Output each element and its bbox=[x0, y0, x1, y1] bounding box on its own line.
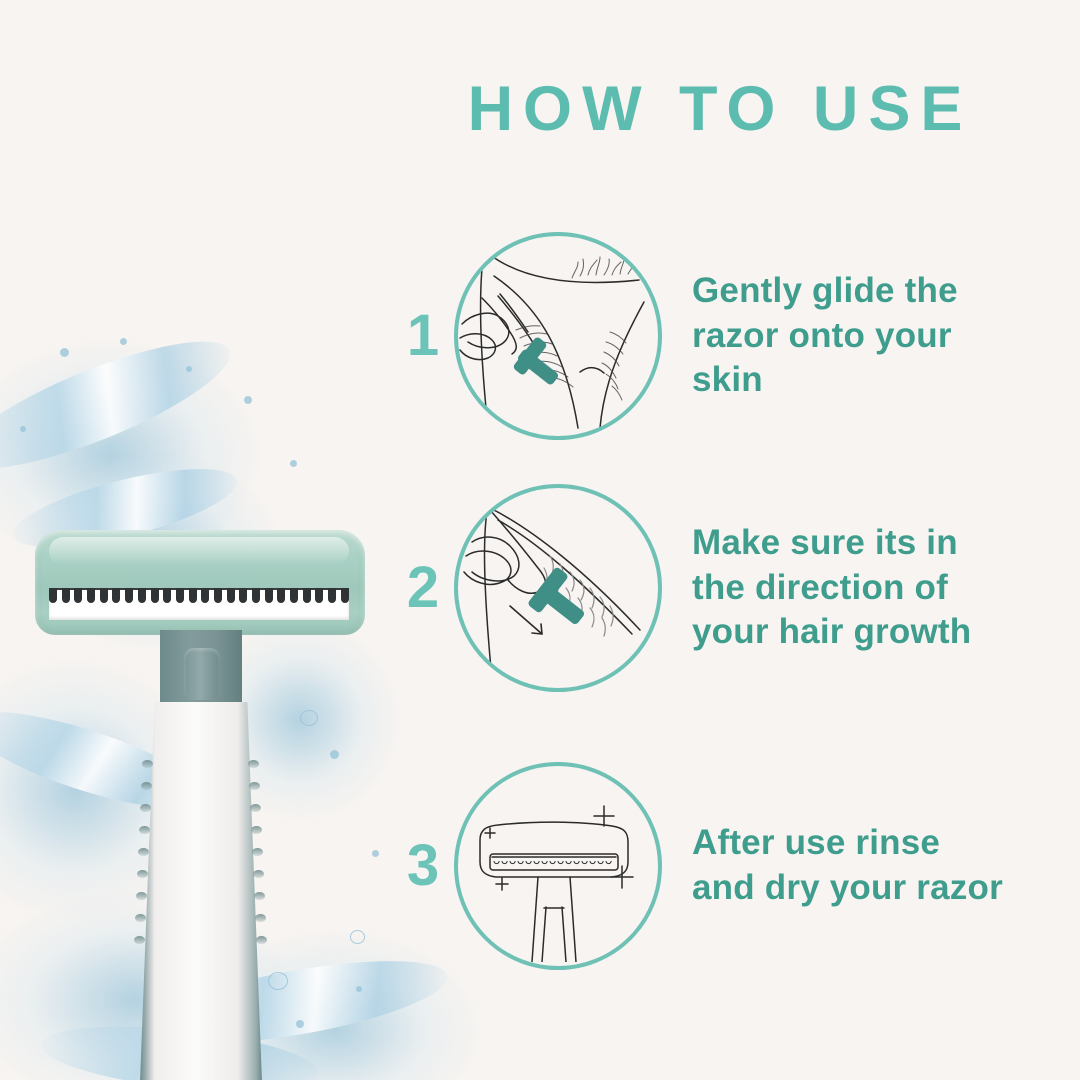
water-droplet bbox=[120, 338, 127, 345]
comb-tooth bbox=[100, 588, 108, 603]
razor-grip-ridge bbox=[256, 936, 267, 944]
step-text: Make sure its in the direction of your h… bbox=[692, 521, 1012, 655]
razor-neck-knob bbox=[184, 648, 220, 700]
razor-grip-ridge bbox=[254, 892, 265, 900]
razor-grip-ridge bbox=[248, 760, 259, 768]
razor-grip-ridge bbox=[135, 914, 146, 922]
comb-tooth bbox=[138, 588, 146, 603]
comb-tooth bbox=[74, 588, 82, 603]
step-number: 3 bbox=[392, 837, 454, 895]
comb-tooth bbox=[315, 588, 323, 603]
comb-tooth bbox=[62, 588, 70, 603]
water-droplet bbox=[296, 1020, 304, 1028]
razor-head bbox=[35, 530, 365, 635]
razor-grip-ridge bbox=[140, 804, 151, 812]
step-2: 2 bbox=[392, 484, 1012, 692]
step-number: 2 bbox=[392, 559, 454, 617]
razor-product-photo bbox=[0, 330, 420, 1080]
water-droplet bbox=[372, 850, 379, 857]
razor-grip-ridge bbox=[141, 782, 152, 790]
razor-comb-guard bbox=[49, 588, 349, 603]
page-title: HOW TO USE bbox=[400, 78, 1040, 141]
comb-tooth bbox=[189, 588, 197, 603]
razor-grip-ridge bbox=[252, 848, 263, 856]
razor-grip-ridge bbox=[249, 782, 260, 790]
step-text: After use rinse and dry your razor bbox=[692, 821, 1012, 911]
comb-tooth bbox=[112, 588, 120, 603]
razor-grip-ridge bbox=[136, 892, 147, 900]
comb-tooth bbox=[303, 588, 311, 603]
comb-tooth bbox=[125, 588, 133, 603]
clean-razor-sparkle-icon bbox=[454, 762, 662, 970]
razor-grip-ridge bbox=[255, 914, 266, 922]
razor-grip-ridge bbox=[250, 804, 261, 812]
comb-tooth bbox=[49, 588, 57, 603]
comb-tooth bbox=[214, 588, 222, 603]
comb-tooth bbox=[176, 588, 184, 603]
water-bubble bbox=[268, 972, 288, 990]
water-droplet bbox=[330, 750, 339, 759]
comb-tooth bbox=[341, 588, 349, 603]
comb-tooth bbox=[87, 588, 95, 603]
step-number: 1 bbox=[392, 307, 454, 365]
razor-grip-ridge bbox=[137, 870, 148, 878]
step-text: Gently glide the razor onto your skin bbox=[692, 269, 1012, 403]
comb-tooth bbox=[265, 588, 273, 603]
comb-tooth bbox=[290, 588, 298, 603]
water-bubble bbox=[300, 710, 318, 726]
step-3: 3 bbox=[392, 762, 1012, 970]
comb-tooth bbox=[227, 588, 235, 603]
comb-tooth bbox=[277, 588, 285, 603]
razor-grip-ridge bbox=[134, 936, 145, 944]
comb-tooth bbox=[239, 588, 247, 603]
step-1: 1 bbox=[392, 232, 1012, 440]
water-bubble bbox=[350, 930, 365, 944]
razor-grip-ridge bbox=[253, 870, 264, 878]
hand-direction-arrow-icon bbox=[454, 484, 662, 692]
comb-tooth bbox=[201, 588, 209, 603]
razor-handle bbox=[140, 702, 262, 1080]
water-droplet bbox=[290, 460, 297, 467]
comb-tooth bbox=[151, 588, 159, 603]
water-droplet bbox=[186, 366, 192, 372]
razor-grip-ridge bbox=[142, 760, 153, 768]
razor-grip-ridge bbox=[251, 826, 262, 834]
water-droplet bbox=[356, 986, 362, 992]
bikini-line-shaving-icon bbox=[454, 232, 662, 440]
razor-head-highlight bbox=[49, 537, 349, 565]
water-droplet bbox=[20, 426, 26, 432]
comb-tooth bbox=[252, 588, 260, 603]
comb-tooth bbox=[163, 588, 171, 603]
water-droplet bbox=[60, 348, 69, 357]
comb-tooth bbox=[328, 588, 336, 603]
water-droplet bbox=[244, 396, 252, 404]
razor-grip-ridge bbox=[139, 826, 150, 834]
how-to-use-infographic: HOW TO USE bbox=[0, 0, 1080, 1080]
razor-grip-ridge bbox=[138, 848, 149, 856]
